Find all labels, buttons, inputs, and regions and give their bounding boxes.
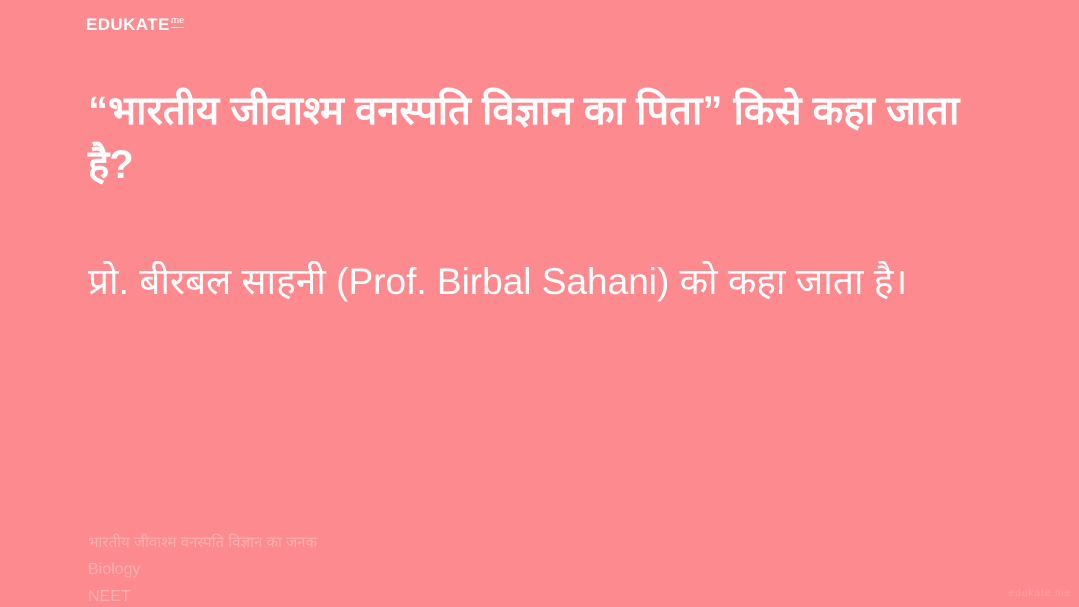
corner-watermark: edukate.me [1009, 588, 1071, 599]
answer-text: प्रो. बीरबल साहनी (Prof. Birbal Sahani) … [88, 193, 938, 309]
brand-logo-word: EDUKATE [86, 16, 170, 33]
footer-exam: NEET [88, 584, 788, 607]
brand-logo[interactable]: EDUKATE me [86, 16, 184, 33]
question-text: “भारतीय जीवाश्म वनस्पति विज्ञान का पिता”… [88, 84, 988, 193]
brand-logo-superscript: me [171, 15, 184, 28]
slide-canvas: EDUKATE me “भारतीय जीवाश्म वनस्पति विज्ञ… [0, 0, 1079, 607]
footer-subject: Biology [88, 557, 788, 584]
footer-topic: भारतीय जीवाश्म वनस्पति विज्ञान का जनक [88, 530, 788, 557]
slide-footer: भारतीय जीवाश्म वनस्पति विज्ञान का जनक Bi… [88, 530, 788, 607]
slide-content: “भारतीय जीवाश्म वनस्पति विज्ञान का पिता”… [88, 84, 988, 308]
